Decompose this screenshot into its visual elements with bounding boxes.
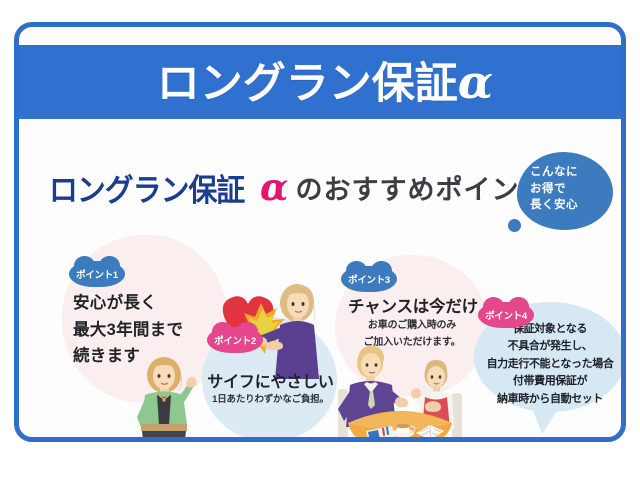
illustration-couple-at-table (330, 345, 470, 442)
subtitle-tail: のおすすめポイント (295, 168, 547, 207)
point-4-line-5: 納車時から自動セット (467, 391, 626, 408)
bubble-tail-dot-icon (508, 219, 521, 232)
point-4-line-3: 自力走行不能となった場合 (467, 356, 626, 373)
point-4-text: 保証対象となる 不具合が発生し、 自力走行不能となった場合 付帯費用保証が 納車… (467, 321, 626, 408)
illustration-woman-green-cardigan (127, 357, 209, 442)
bubble-line-2: お得で (530, 181, 578, 198)
point-4-line-2: 不具合が発生し、 (467, 338, 626, 355)
point-4-line-4: 付帯費用保証が (467, 373, 626, 390)
point-1-line-1: 安心が長く (73, 290, 223, 317)
callout-bubble-top-right: こんなに お得で 長く安心 (517, 152, 613, 230)
promo-poster: ロングラン保証α ロングラン保証 α のおすすめポイント こんなに お得で 長く… (14, 22, 626, 442)
poster-header-band: ロングラン保証α (18, 45, 626, 119)
bubble-text: こんなに お得で 長く安心 (530, 164, 578, 214)
subtitle-alpha: α (260, 165, 288, 209)
point-2-subtext: 1日あたりわずかなご負担。 (202, 391, 339, 405)
point-4-badge: ポイント4 (478, 302, 534, 328)
point-1-badge: ポイント1 (69, 261, 125, 287)
point-2-title: サイフにやさしい (202, 368, 339, 392)
point-1-line-2: 最大3年間まで (73, 317, 223, 344)
point-3-title: チャンスは今だけ (335, 293, 491, 317)
page-title: ロングラン保証α (157, 59, 493, 106)
bubble-line-1: こんなに (530, 164, 578, 181)
subtitle-brand: ロングラン保証 (49, 165, 244, 210)
point-3-badge: ポイント3 (341, 266, 397, 292)
bubble-line-3: 長く安心 (530, 197, 578, 214)
subtitle: ロングラン保証 α のおすすめポイント (49, 157, 594, 217)
page-title-alpha: α (458, 55, 493, 109)
page-title-main: ロングラン保証 (157, 60, 458, 108)
point-2-badge: ポイント2 (207, 327, 263, 353)
